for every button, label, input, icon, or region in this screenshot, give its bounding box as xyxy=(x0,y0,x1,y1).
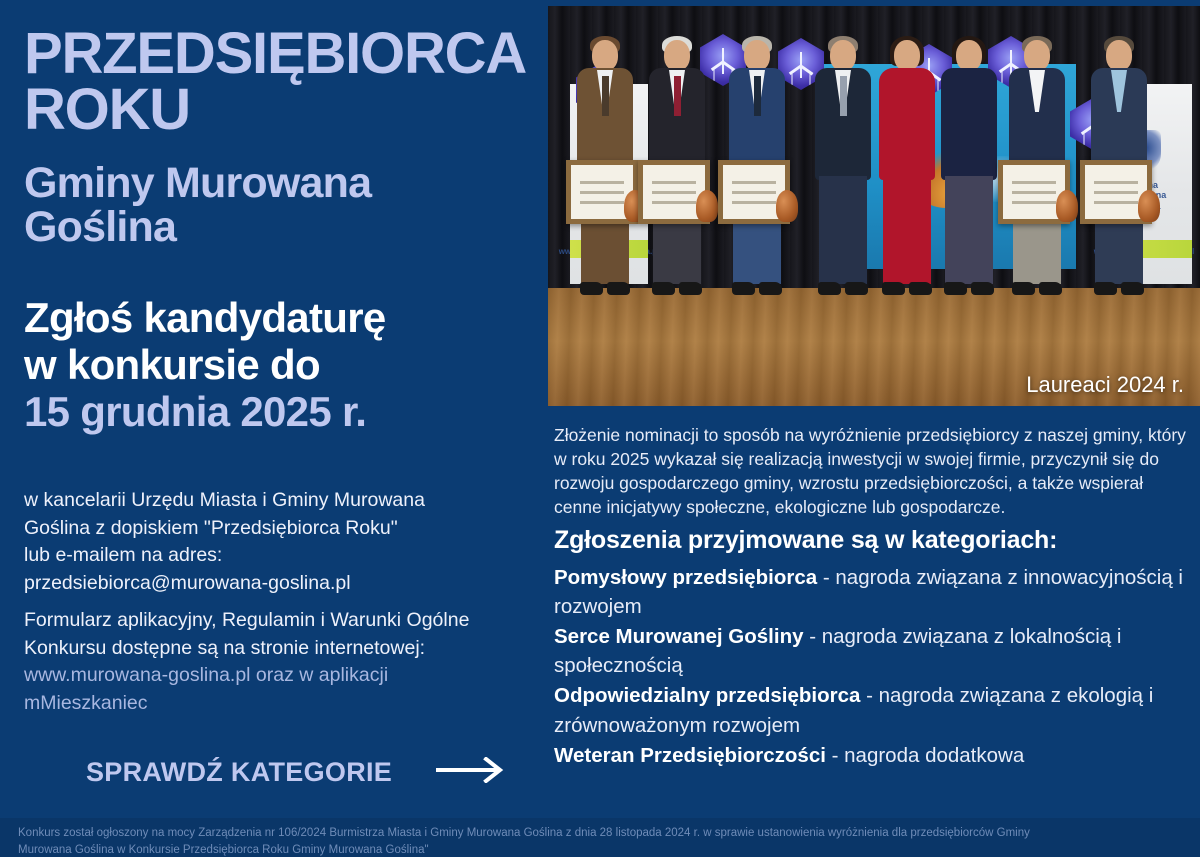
category-item: Serce Murowanej Gośliny - nagroda związa… xyxy=(554,622,1199,680)
app-name: mMieszkaniec xyxy=(24,690,529,718)
page-title: PRZEDSIĘBIORCA ROKU xyxy=(24,26,544,137)
deadline-date: 15 grudnia 2025 r. xyxy=(24,388,544,435)
page-subtitle: Gminy Murowana Goślina xyxy=(24,162,524,250)
legal-footer-line-2: Murowana Goślina w Konkursie Przedsiębio… xyxy=(18,842,1182,857)
categories-heading: Zgłoszenia przyjmowane są w kategoriach: xyxy=(554,526,1057,555)
deadline-block: Zgłoś kandydaturę w konkursie do 15 grud… xyxy=(24,294,544,435)
website-link[interactable]: www.murowana-goslina.pl oraz w aplikacji xyxy=(24,662,529,690)
poster-root: PRZEDSIĘBIORCA ROKU Gminy Murowana Gośli… xyxy=(0,0,1200,857)
trophy-icon xyxy=(1056,190,1078,222)
laureate-figure xyxy=(940,40,998,308)
forms-paragraph: Formularz aplikacyjny, Regulamin i Warun… xyxy=(24,607,529,718)
photo-caption: Laureaci 2024 r. xyxy=(1026,372,1184,398)
check-categories-button[interactable]: SPRAWDŹ KATEGORIE xyxy=(86,757,506,788)
office-line-3: lub e-mailem na adres: xyxy=(24,542,529,570)
category-description: - nagroda dodatkowa xyxy=(826,744,1024,767)
deadline-line-1: Zgłoś kandydaturę xyxy=(24,294,544,341)
laureates-photo: Gmina Murowana Goślina www.murowana-gosl… xyxy=(548,6,1200,406)
check-categories-label: SPRAWDŹ KATEGORIE xyxy=(86,757,392,788)
category-name: Pomysłowy przedsiębiorca xyxy=(554,566,817,589)
laureate-figure xyxy=(572,40,638,308)
legal-footer-line-1: Konkurs został ogłoszony na mocy Zarządz… xyxy=(18,825,1182,842)
category-name: Odpowiedzialny przedsiębiorca xyxy=(554,684,860,707)
deadline-line-2: w konkursie do xyxy=(24,341,544,388)
categories-list: Pomysłowy przedsiębiorca - nagroda związ… xyxy=(554,563,1199,771)
laureate-figure xyxy=(810,40,876,308)
category-item: Odpowiedzialny przedsiębiorca - nagroda … xyxy=(554,681,1199,739)
forms-line-1: Formularz aplikacyjny, Regulamin i Warun… xyxy=(24,607,529,635)
submission-office-paragraph: w kancelarii Urzędu Miasta i Gminy Murow… xyxy=(24,487,529,598)
arrow-right-icon xyxy=(434,757,506,788)
forms-line-2: Konkursu dostępne są na stronie internet… xyxy=(24,635,529,663)
laureate-figure xyxy=(878,40,936,308)
contact-email[interactable]: przedsiebiorca@murowana-goslina.pl xyxy=(24,570,529,598)
category-item: Weteran Przedsiębiorczości - nagroda dod… xyxy=(554,741,1199,770)
office-line-1: w kancelarii Urzędu Miasta i Gminy Murow… xyxy=(24,487,529,515)
trophy-icon xyxy=(1138,190,1160,222)
laureate-figure xyxy=(1004,40,1070,308)
right-column: Gmina Murowana Goślina www.murowana-gosl… xyxy=(548,0,1200,818)
laureate-figure xyxy=(724,40,790,308)
laureate-figure xyxy=(1086,40,1152,308)
category-name: Weteran Przedsiębiorczości xyxy=(554,744,826,767)
trophy-icon xyxy=(696,190,718,222)
legal-footer: Konkurs został ogłoszony na mocy Zarządz… xyxy=(0,818,1200,857)
intro-paragraph: Złożenie nominacji to sposób na wyróżnie… xyxy=(554,423,1194,520)
laureate-figure xyxy=(644,40,710,308)
category-item: Pomysłowy przedsiębiorca - nagroda związ… xyxy=(554,563,1199,621)
category-name: Serce Murowanej Gośliny xyxy=(554,625,804,648)
left-column: PRZEDSIĘBIORCA ROKU Gminy Murowana Gośli… xyxy=(0,0,548,818)
office-line-2: Goślina z dopiskiem "Przedsiębiorca Roku… xyxy=(24,515,529,543)
trophy-icon xyxy=(776,190,798,222)
